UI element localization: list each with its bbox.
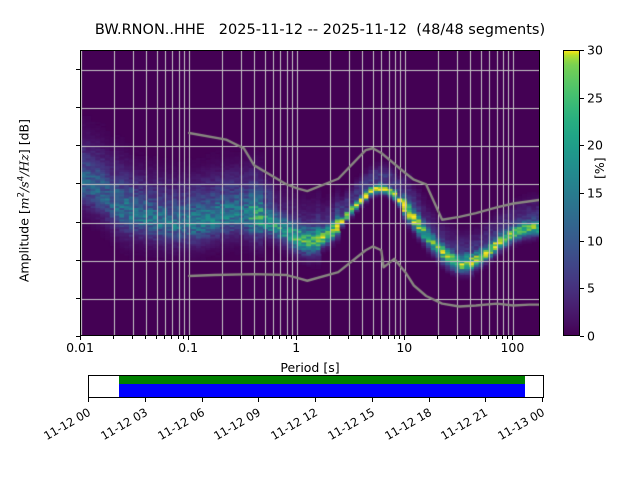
colorbar-label: [%] (592, 157, 607, 179)
colorbar-tick-mark (580, 50, 584, 51)
timeline-axes[interactable] (88, 375, 544, 398)
data-coverage-bar (119, 376, 525, 384)
colorbar-tick-mark (580, 288, 584, 289)
colorbar-tick-label: 30 (587, 43, 603, 58)
colorbar-tick-label: 15 (587, 186, 603, 201)
x-tick-mark (156, 336, 157, 339)
timeline-tick-mark (429, 398, 430, 402)
colorbar[interactable] (563, 50, 580, 336)
y-tick-mark (76, 69, 80, 70)
psd-segments-bar (119, 384, 525, 397)
x-tick-label: 10 (396, 340, 412, 355)
x-tick-mark (286, 336, 287, 339)
colorbar-tick-label: 0 (587, 329, 595, 344)
x-tick-mark (496, 336, 497, 339)
x-tick-mark (480, 336, 481, 339)
y-tick-mark (76, 298, 80, 299)
x-tick-mark (164, 336, 165, 339)
y-tick-mark (76, 260, 80, 261)
colorbar-tick-mark (580, 193, 584, 194)
timeline-tick-mark (88, 398, 89, 402)
figure-canvas: BW.RNON..HHE 2025-11-12 -- 2025-11-12 (4… (0, 0, 640, 480)
colorbar-tick-mark (580, 98, 584, 99)
x-tick-label: 0.01 (66, 340, 94, 355)
timeline-tick-mark (542, 398, 543, 402)
x-tick-mark (272, 336, 273, 339)
colorbar-tick-label: 20 (587, 138, 603, 153)
x-tick-mark (394, 336, 395, 339)
x-tick-mark (279, 336, 280, 339)
x-tick-mark (380, 336, 381, 339)
x-tick-mark (399, 336, 400, 339)
x-tick-mark (145, 336, 146, 339)
x-tick-mark (183, 336, 184, 339)
x-tick-mark (253, 336, 254, 339)
colorbar-tick-label: 5 (587, 281, 595, 296)
x-tick-mark (437, 336, 438, 339)
colorbar-tick-mark (580, 336, 584, 337)
x-tick-mark (291, 336, 292, 339)
x-tick-mark (240, 336, 241, 339)
x-tick-mark (388, 336, 389, 339)
timeline-tick-mark (145, 398, 146, 402)
timeline-tick-mark (202, 398, 203, 402)
x-tick-mark (348, 336, 349, 339)
x-tick-mark (372, 336, 373, 339)
y-tick-mark (76, 183, 80, 184)
timeline-tick-mark (258, 398, 259, 402)
x-axis-label: Period [s] (80, 360, 540, 375)
x-tick-mark (502, 336, 503, 339)
y-tick-mark (76, 222, 80, 223)
colorbar-tick-label: 25 (587, 90, 603, 105)
x-tick-mark (361, 336, 362, 339)
timeline-tick-mark (485, 398, 486, 402)
axis-ticks: −60−80−100−120−140−160−180−2000.010.1110… (0, 0, 640, 480)
x-tick-mark (507, 336, 508, 339)
x-tick-mark (171, 336, 172, 339)
x-tick-mark (488, 336, 489, 339)
x-tick-mark (329, 336, 330, 339)
timeline-tick-mark (315, 398, 316, 402)
x-tick-mark (132, 336, 133, 339)
timeline-tick-mark (372, 398, 373, 402)
x-tick-label: 0.1 (178, 340, 198, 355)
x-tick-mark (221, 336, 222, 339)
colorbar-tick-mark (580, 145, 584, 146)
y-tick-mark (76, 107, 80, 108)
x-tick-mark (113, 336, 114, 339)
x-tick-label: 1 (292, 340, 300, 355)
x-tick-mark (469, 336, 470, 339)
y-tick-mark (76, 145, 80, 146)
x-tick-label: 100 (500, 340, 524, 355)
colorbar-tick-label: 10 (587, 233, 603, 248)
x-tick-mark (264, 336, 265, 339)
colorbar-tick-mark (580, 241, 584, 242)
x-tick-mark (456, 336, 457, 339)
x-tick-mark (178, 336, 179, 339)
